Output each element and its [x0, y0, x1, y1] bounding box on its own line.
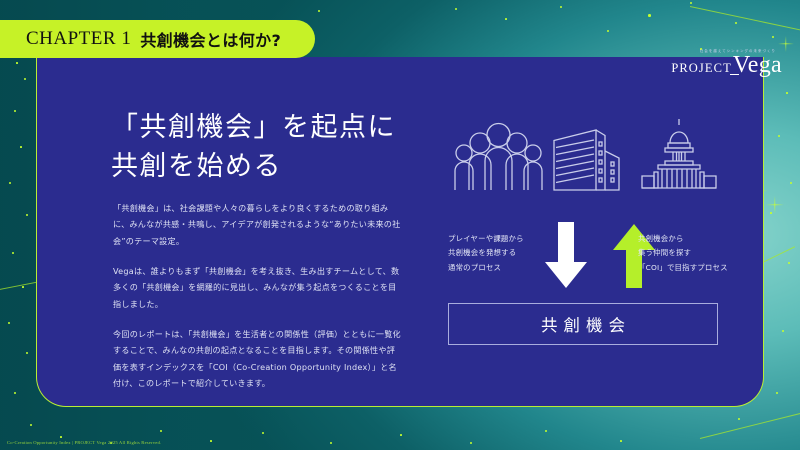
project-vega-logo: 社会を越えてシンキングの未来づくり PROJECT Vega: [671, 48, 782, 76]
sparkle-icon: [766, 196, 784, 214]
left-process-label: プレイヤーや課題から 共創機会を発想する 通常のプロセス: [448, 232, 524, 275]
people-icon: [453, 122, 545, 192]
office-building-icon: [552, 120, 624, 192]
page-title: 「共創機会」を起点に 共創を始める: [111, 108, 396, 186]
paragraph-1: 「共創機会」は、社会課題や人々の暮らしをより良くするための取り組みに、みんなが共…: [113, 200, 401, 249]
logo-project-word: PROJECT: [671, 62, 732, 77]
process-arrows-row: プレイヤーや課題から 共創機会を発想する 通常のプロセス 共創機会から 集う仲間…: [448, 222, 728, 294]
stakeholder-icons-row: [448, 112, 718, 192]
paragraph-2: Vegaは、誰よりもまず「共創機会」を考え抜き、生み出すチームとして、数多くの「…: [113, 263, 401, 312]
government-building-icon: [640, 116, 718, 192]
chapter-title-label: 共創機会とは何か?: [140, 27, 281, 51]
right-process-label: 共創機会から 集う仲間を探す 「COI」で目指すプロセス: [638, 232, 728, 275]
co-creation-opportunity-label: 共創機会: [535, 312, 631, 336]
logo-vega-word: Vega: [733, 54, 782, 76]
footer-copyright: Co-Creation Opportunity Index | PROJECT …: [7, 440, 161, 445]
chapter-banner: CHAPTER 1 共創機会とは何か?: [0, 20, 315, 58]
chapter-number-label: CHAPTER 1: [26, 28, 131, 50]
slide-root: 「共創機会」を起点に 共創を始める 「共創機会」は、社会課題や人々の暮らしをより…: [0, 0, 800, 450]
body-text-column: 「共創機会」は、社会課題や人々の暮らしをより良くするための取り組みに、みんなが共…: [113, 200, 401, 405]
content-panel: 「共創機会」を起点に 共創を始める 「共創機会」は、社会課題や人々の暮らしをより…: [36, 57, 764, 407]
co-creation-opportunity-box: 共創機会: [448, 303, 718, 345]
down-arrow-icon: [543, 222, 589, 295]
paragraph-3: 今回のレポートは、「共創機会」を生活者との関係性（評価）とともに一覧化することで…: [113, 326, 401, 391]
